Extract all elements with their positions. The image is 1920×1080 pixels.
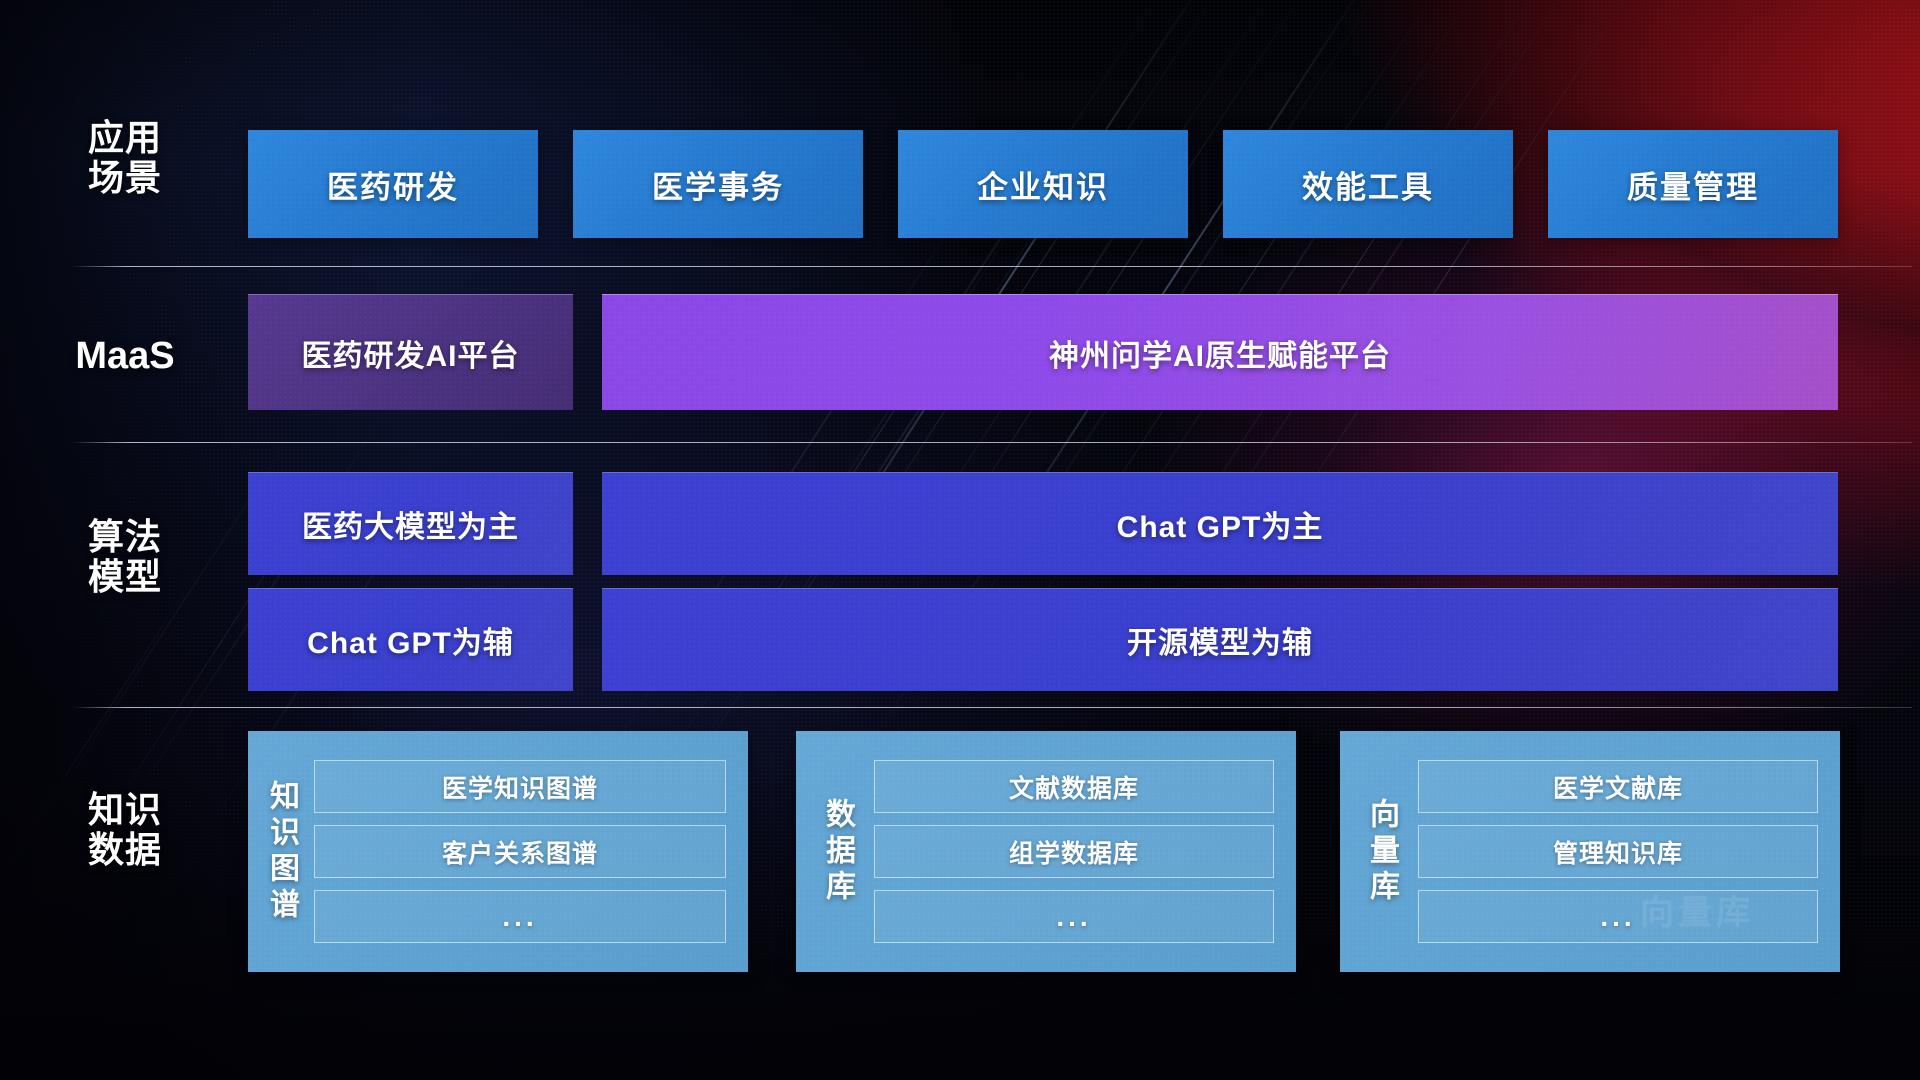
app-box-label: 企业知识 — [977, 162, 1109, 207]
row-label-knowledge: 知识 数据 — [60, 790, 190, 871]
knowledge-item[interactable]: 医学文献库 — [1418, 760, 1818, 813]
maas-box-shenzhou-wenxue-platform[interactable]: 神州问学AI原生赋能平台 — [602, 294, 1838, 410]
knowledge-item-list: 文献数据库 组学数据库 ... — [874, 760, 1274, 943]
knowledge-item-more[interactable]: ... — [1418, 890, 1818, 943]
maas-left-label: 医药研发AI平台 — [302, 331, 520, 375]
algo-box-opensource-secondary[interactable]: 开源模型为辅 — [602, 588, 1838, 691]
knowledge-group-database[interactable]: 数据库 文献数据库 组学数据库 ... — [796, 731, 1296, 972]
algo-label: Chat GPT为主 — [1117, 502, 1324, 546]
algo-label: Chat GPT为辅 — [307, 618, 514, 662]
knowledge-item-more[interactable]: ... — [874, 890, 1274, 943]
knowledge-item[interactable]: 客户关系图谱 — [314, 825, 726, 878]
app-box-medicine-rd[interactable]: 医药研发 — [248, 130, 538, 238]
knowledge-group-vector-store[interactable]: 向量库 医学文献库 管理知识库 ... — [1340, 731, 1840, 972]
row-label-algorithm: 算法 模型 — [60, 517, 190, 598]
divider-application-maas — [72, 266, 1912, 267]
maas-box-medicine-ai-platform[interactable]: 医药研发AI平台 — [248, 294, 573, 410]
knowledge-item-list: 医学文献库 管理知识库 ... — [1418, 760, 1818, 943]
app-box-label: 医学事务 — [652, 162, 784, 207]
knowledge-item[interactable]: 组学数据库 — [874, 825, 1274, 878]
app-box-quality-management[interactable]: 质量管理 — [1548, 130, 1838, 238]
algo-box-medicine-llm-primary[interactable]: 医药大模型为主 — [248, 472, 573, 575]
algo-box-chatgpt-secondary[interactable]: Chat GPT为辅 — [248, 588, 573, 691]
knowledge-item-list: 医学知识图谱 客户关系图谱 ... — [314, 760, 726, 943]
row-label-maas: MaaS — [60, 335, 190, 378]
knowledge-group-vertical-label: 向量库 — [1366, 798, 1396, 906]
row-label-application: 应用 场景 — [60, 118, 190, 199]
app-box-label: 质量管理 — [1627, 162, 1759, 207]
app-box-medical-affairs[interactable]: 医学事务 — [573, 130, 863, 238]
algo-box-chatgpt-primary[interactable]: Chat GPT为主 — [602, 472, 1838, 575]
knowledge-item-more[interactable]: ... — [314, 890, 726, 943]
knowledge-item[interactable]: 医学知识图谱 — [314, 760, 726, 813]
divider-algorithm-knowledge — [72, 707, 1912, 708]
knowledge-item[interactable]: 文献数据库 — [874, 760, 1274, 813]
knowledge-group-knowledge-graph[interactable]: 知识图谱 医学知识图谱 客户关系图谱 ... — [248, 731, 748, 972]
knowledge-group-vertical-label: 数据库 — [822, 798, 852, 906]
knowledge-item[interactable]: 管理知识库 — [1418, 825, 1818, 878]
app-box-label: 医药研发 — [327, 162, 459, 207]
app-box-label: 效能工具 — [1302, 162, 1434, 207]
app-box-enterprise-knowledge[interactable]: 企业知识 — [898, 130, 1188, 238]
app-box-efficiency-tools[interactable]: 效能工具 — [1223, 130, 1513, 238]
knowledge-group-vertical-label: 知识图谱 — [266, 780, 296, 924]
algo-label: 医药大模型为主 — [302, 502, 519, 546]
algo-label: 开源模型为辅 — [1127, 618, 1313, 662]
divider-maas-algorithm — [72, 442, 1912, 443]
architecture-diagram: 应用 场景 医药研发 医学事务 企业知识 效能工具 质量管理 MaaS 医药研发… — [0, 0, 1920, 1080]
maas-right-label: 神州问学AI原生赋能平台 — [1049, 331, 1391, 375]
